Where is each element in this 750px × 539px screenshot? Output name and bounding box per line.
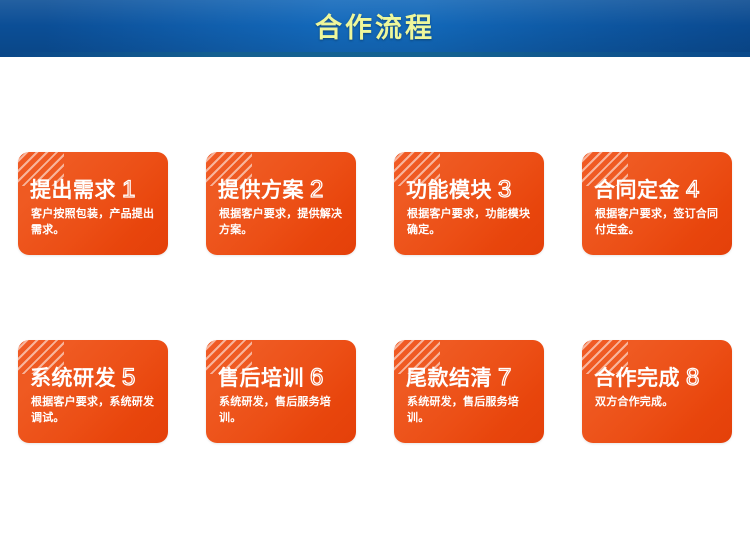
process-step-row-1: 提出需求 1 客户按照包装，产品提出需求。 提供方案 2 根据客户要求，提供解决…: [0, 152, 750, 257]
process-step-description: 客户按照包装，产品提出需求。: [31, 206, 157, 238]
process-step-number: 8: [686, 366, 700, 390]
page-header-banner: 合作流程: [0, 0, 750, 57]
process-step-title: 合同定金: [594, 180, 680, 201]
process-step-title-row: 系统研发 5: [30, 366, 160, 390]
process-step-title-row: 功能模块 3: [406, 178, 536, 202]
process-step-description: 系统研发，售后服务培训。: [219, 394, 345, 426]
process-step-card-1[interactable]: 提出需求 1 客户按照包装，产品提出需求。: [18, 152, 168, 255]
process-step-description: 根据客户要求，功能模块确定。: [407, 206, 533, 238]
process-step-card-8[interactable]: 合作完成 8 双方合作完成。: [582, 340, 732, 443]
process-step-description: 双方合作完成。: [595, 394, 721, 410]
process-step-number: 6: [310, 366, 324, 390]
process-step-title: 售后培训: [218, 368, 304, 389]
process-step-number: 3: [498, 178, 512, 202]
process-step-row-2: 系统研发 5 根据客户要求，系统研发调试。 售后培训 6 系统研发，售后服务培训…: [0, 340, 750, 445]
process-step-title: 功能模块: [406, 180, 492, 201]
process-step-title: 系统研发: [30, 368, 116, 389]
page-title: 合作流程: [0, 0, 750, 57]
process-step-title-row: 合同定金 4: [594, 178, 724, 202]
process-step-description: 系统研发，售后服务培训。: [407, 394, 533, 426]
process-step-title-row: 提出需求 1: [30, 178, 160, 202]
process-step-card-3[interactable]: 功能模块 3 根据客户要求，功能模块确定。: [394, 152, 544, 255]
process-step-title: 提出需求: [30, 180, 116, 201]
process-step-title-row: 售后培训 6: [218, 366, 348, 390]
process-step-title-row: 提供方案 2: [218, 178, 348, 202]
process-step-description: 根据客户要求，提供解决方案。: [219, 206, 345, 238]
process-step-description: 根据客户要求，签订合同付定金。: [595, 206, 721, 238]
process-step-title-row: 合作完成 8: [594, 366, 724, 390]
process-step-number: 2: [310, 178, 324, 202]
process-step-title: 提供方案: [218, 180, 304, 201]
process-step-description: 根据客户要求，系统研发调试。: [31, 394, 157, 426]
process-step-title: 尾款结清: [406, 368, 492, 389]
process-step-card-7[interactable]: 尾款结清 7 系统研发，售后服务培训。: [394, 340, 544, 443]
process-step-card-5[interactable]: 系统研发 5 根据客户要求，系统研发调试。: [18, 340, 168, 443]
process-step-number: 5: [122, 366, 136, 390]
process-step-card-2[interactable]: 提供方案 2 根据客户要求，提供解决方案。: [206, 152, 356, 255]
process-step-title-row: 尾款结清 7: [406, 366, 536, 390]
process-step-title: 合作完成: [594, 368, 680, 389]
process-step-number: 7: [498, 366, 512, 390]
process-step-number: 1: [122, 178, 136, 202]
process-step-grid: 提出需求 1 客户按照包装，产品提出需求。 提供方案 2 根据客户要求，提供解决…: [0, 57, 750, 539]
process-step-card-4[interactable]: 合同定金 4 根据客户要求，签订合同付定金。: [582, 152, 732, 255]
process-step-card-6[interactable]: 售后培训 6 系统研发，售后服务培训。: [206, 340, 356, 443]
cooperation-process-page: 合作流程 提出需求 1 客户按照包装，产品提出需求。 提供方案 2 根据客户要求…: [0, 0, 750, 539]
process-step-number: 4: [686, 178, 700, 202]
